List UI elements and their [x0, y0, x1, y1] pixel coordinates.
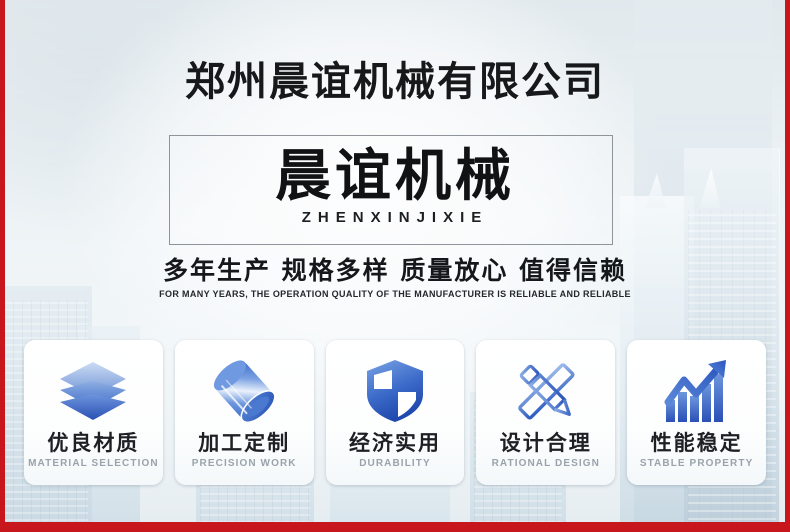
feature-card-precision-work[interactable]: 加工定制 PRECISION WORK [175, 340, 314, 485]
ruler-pencil-icon [509, 354, 583, 428]
feature-label-cn: 设计合理 [500, 430, 592, 456]
growth-chart-icon [660, 354, 734, 428]
feature-card-stable-property[interactable]: 性能稳定 STABLE PROPERTY [627, 340, 766, 485]
product-banner: 郑州晨谊机械有限公司 晨谊机械 ZHENXINJIXIE 多年生产 规格多样 质… [0, 0, 790, 532]
feature-card-material-selection[interactable]: 优良材质 MATERIAL SELECTION [24, 340, 163, 485]
feature-label-en: DURABILITY [359, 457, 431, 471]
feature-label-cn: 经济实用 [349, 430, 441, 456]
feature-label-cn: 性能稳定 [651, 430, 743, 456]
red-edge-bottom [0, 522, 790, 532]
tagline-chinese: 多年生产 规格多样 质量放心 值得信赖 [0, 255, 790, 287]
feature-label-en: RATIONAL DESIGN [492, 457, 600, 471]
company-title: 郑州晨谊机械有限公司 [0, 58, 790, 106]
red-edge-right [785, 0, 790, 532]
feature-label-en: STABLE PROPERTY [640, 457, 754, 471]
feature-label-cn: 加工定制 [198, 430, 290, 456]
stacked-layers-icon [56, 354, 130, 428]
tagline-english: FOR MANY YEARS, THE OPERATION QUALITY OF… [0, 288, 790, 301]
feature-label-en: MATERIAL SELECTION [28, 457, 159, 471]
feature-card-durability[interactable]: 经济实用 DURABILITY [326, 340, 465, 485]
shield-icon [358, 354, 432, 428]
brand-pinyin: ZHENXINJIXIE [0, 208, 790, 228]
feature-card-list: 优良材质 MATERIAL SELECTION [24, 340, 766, 485]
steel-pipe-icon [207, 354, 281, 428]
red-edge-left [0, 0, 5, 532]
brand-name: 晨谊机械 [0, 144, 790, 210]
feature-card-rational-design[interactable]: 设计合理 RATIONAL DESIGN [476, 340, 615, 485]
feature-label-en: PRECISION WORK [192, 457, 297, 471]
feature-label-cn: 优良材质 [47, 430, 139, 456]
